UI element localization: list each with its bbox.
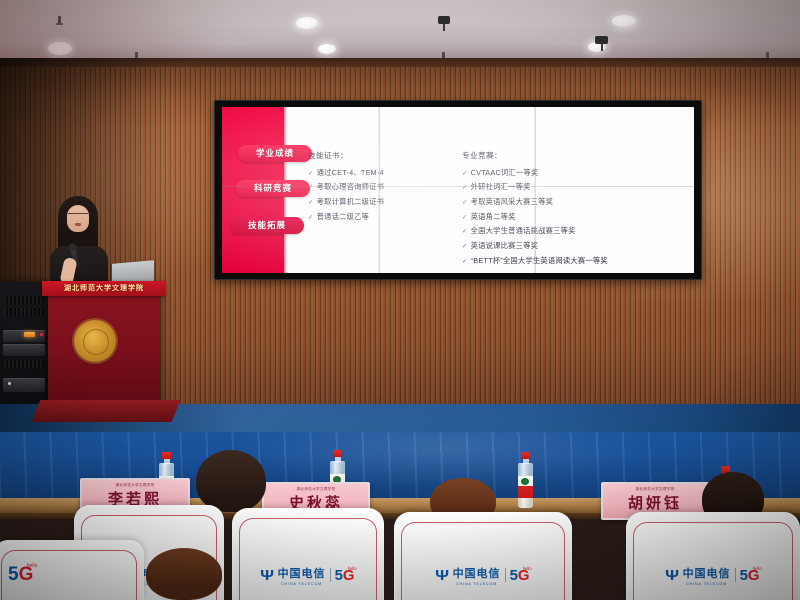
rack-unit xyxy=(3,344,45,356)
logo-divider xyxy=(330,568,331,582)
slide-tab-skills: 技能拓展 xyxy=(230,217,304,234)
china-telecom-logo: Ψ 中国电信 CHINA TELECOM 5Ghello xyxy=(626,564,800,586)
ceiling-fixture-icon xyxy=(438,16,450,24)
bottle-cap xyxy=(162,452,171,459)
competition-text: 全国大学生普通话挑战赛三等奖 xyxy=(471,226,576,235)
competitions-heading: 专业竞赛： xyxy=(462,149,608,164)
certificate-item: ✓通过CET-4、TEM-4 xyxy=(308,166,384,181)
ceiling xyxy=(0,0,800,62)
5g-five: 5 xyxy=(8,564,19,585)
chair-cover: 5Ghello xyxy=(0,540,144,600)
slide-tab-academic: 学业成绩 xyxy=(238,145,312,162)
presentation-slide: 学业成绩 科研竞赛 技能拓展 技能证书： ✓通过CET-4、TEM-4 ✓考取心… xyxy=(222,107,694,273)
screen-surface: 学业成绩 科研竞赛 技能拓展 技能证书： ✓通过CET-4、TEM-4 ✓考取心… xyxy=(222,107,694,273)
chair-cover: Ψ 中国电信 CHINA TELECOM 5Ghello xyxy=(626,512,800,600)
competition-item: ✓“BETT杯”全国大学生英语阅读大赛一等奖 xyxy=(462,254,608,269)
telecom-mark-icon: Ψ xyxy=(436,568,450,583)
av-equipment-rack xyxy=(0,282,48,416)
check-icon: ✓ xyxy=(462,199,468,206)
audience-head xyxy=(196,450,266,512)
competition-item: ✓英语说课比赛三等奖 xyxy=(462,239,608,254)
rack-power-led-icon xyxy=(8,382,11,385)
5g-g: G xyxy=(343,567,355,584)
5g-logo: 5Ghello xyxy=(510,568,530,583)
telecom-mark-icon: Ψ xyxy=(261,568,275,583)
certificate-item: ✓考取心理咨询师证书 xyxy=(308,180,384,195)
rack-vent-panel xyxy=(4,296,44,305)
presentation-photo: 学业成绩 科研竞赛 技能拓展 技能证书： ✓通过CET-4、TEM-4 ✓考取心… xyxy=(0,0,800,600)
check-icon: ✓ xyxy=(462,258,468,265)
5g-five: 5 xyxy=(510,567,518,584)
competition-item: ✓考取英语风采大赛三等奖 xyxy=(462,195,608,210)
5g-logo: 5Ghello xyxy=(335,568,355,583)
5g-hello: hello xyxy=(348,567,357,571)
5g-logo: 5Ghello xyxy=(740,568,760,583)
check-icon: ✓ xyxy=(308,199,314,206)
5g-g: G xyxy=(748,567,760,584)
ceiling-light-icon xyxy=(588,42,606,52)
projection-screen: 学业成绩 科研竞赛 技能拓展 技能证书： ✓通过CET-4、TEM-4 ✓考取心… xyxy=(214,100,702,280)
telecom-wordmark: 中国电信 CHINA TELECOM xyxy=(453,564,501,586)
telecom-name-cn: 中国电信 xyxy=(278,567,326,580)
certificate-text: 普通话二级乙等 xyxy=(317,212,369,221)
certificate-item: ✓普通话二级乙等 xyxy=(308,210,384,225)
competition-text: 外研社词汇一等奖 xyxy=(471,182,531,191)
chair-cover: Ψ 中国电信 CHINA TELECOM 5Ghello xyxy=(232,508,384,600)
presenter xyxy=(46,196,112,292)
telecom-name-en: CHINA TELECOM xyxy=(683,582,731,586)
competition-text: 考取英语风采大赛三等奖 xyxy=(471,197,553,206)
competition-item: ✓全国大学生普通话挑战赛三等奖 xyxy=(462,224,608,239)
competition-text: 英语角二等奖 xyxy=(471,212,516,221)
5g-five: 5 xyxy=(335,567,343,584)
5g-five: 5 xyxy=(740,567,748,584)
presenter-glasses-icon xyxy=(68,213,88,219)
logo-divider xyxy=(735,568,736,582)
bottle-cap xyxy=(521,452,530,459)
university-emblem-icon xyxy=(74,320,116,362)
certificate-item: ✓考取计算机二级证书 xyxy=(308,195,384,210)
chair-cover: Ψ 中国电信 CHINA TELECOM 5Ghello xyxy=(394,512,572,600)
slide-column-competitions: 专业竞赛： ✓CVTAAC词汇一等奖 ✓外研社词汇一等奖 ✓考取英语风采大赛三等… xyxy=(462,149,608,269)
telecom-name-cn: 中国电信 xyxy=(453,567,501,580)
competition-item: ✓CVTAAC词汇一等奖 xyxy=(462,166,608,181)
check-icon: ✓ xyxy=(308,170,314,177)
telecom-mark-icon: Ψ xyxy=(666,568,680,583)
5g-hello: hello xyxy=(753,567,762,571)
china-telecom-logo: Ψ 中国电信 CHINA TELECOM 5Ghello xyxy=(394,564,572,586)
telecom-name-cn: 中国电信 xyxy=(683,567,731,580)
check-icon: ✓ xyxy=(462,228,468,235)
competition-item: ✓外研社词汇一等奖 xyxy=(462,180,608,195)
presenter-mouth xyxy=(75,223,81,226)
ceiling-light-icon xyxy=(296,17,318,29)
ceiling-light-icon xyxy=(612,15,636,27)
competition-text: “BETT杯”全国大学生英语阅读大赛一等奖 xyxy=(471,256,608,265)
podium-banner: 湖北师范大学文理学院 xyxy=(42,281,166,296)
5g-logo-front: 5Ghello xyxy=(0,565,144,584)
ceiling-light-icon xyxy=(48,42,72,55)
check-icon: ✓ xyxy=(462,170,468,177)
competition-item: ✓英语角二等奖 xyxy=(462,210,608,225)
bottle-cap xyxy=(333,450,342,457)
telecom-wordmark: 中国电信 CHINA TELECOM xyxy=(278,564,326,586)
china-telecom-logo: Ψ 中国电信 CHINA TELECOM 5Ghello xyxy=(232,564,384,586)
certificate-text: 考取心理咨询师证书 xyxy=(317,182,384,191)
5g-g: G xyxy=(518,567,530,584)
5g-hello: hello xyxy=(523,567,532,571)
check-icon: ✓ xyxy=(462,243,468,250)
sprinkler-icon xyxy=(58,16,61,24)
name-card-name: 胡妍钰 xyxy=(603,492,707,514)
rack-status-led-icon xyxy=(24,332,35,337)
telecom-name-en: CHINA TELECOM xyxy=(453,582,501,586)
competition-text: 英语说课比赛三等奖 xyxy=(471,241,538,250)
rack-unit xyxy=(3,378,45,392)
ceiling-fixture-icon xyxy=(595,36,608,44)
red-carpet xyxy=(32,400,181,422)
bottle-label xyxy=(518,476,533,498)
check-icon: ✓ xyxy=(462,184,468,191)
ceiling-light-icon xyxy=(318,44,336,54)
wall-top-trim xyxy=(0,58,800,67)
audience-head xyxy=(146,548,222,600)
slide-column-certificates: 技能证书： ✓通过CET-4、TEM-4 ✓考取心理咨询师证书 ✓考取计算机二级… xyxy=(308,149,384,224)
5g-hello: hello xyxy=(27,564,38,569)
certificate-text: 通过CET-4、TEM-4 xyxy=(317,168,384,177)
check-icon: ✓ xyxy=(308,214,314,221)
5g-logo: 5Ghello xyxy=(8,565,33,584)
slide-tab-research: 科研竞赛 xyxy=(236,180,310,197)
logo-divider xyxy=(505,568,506,582)
telecom-name-en: CHINA TELECOM xyxy=(278,582,326,586)
check-icon: ✓ xyxy=(308,184,314,191)
competition-text: CVTAAC词汇一等奖 xyxy=(471,168,539,177)
check-icon: ✓ xyxy=(462,214,468,221)
certificate-text: 考取计算机二级证书 xyxy=(317,197,384,206)
rack-vent-panel xyxy=(4,360,44,369)
rack-vent-panel xyxy=(4,308,44,317)
rack-power-led-icon xyxy=(40,333,43,336)
water-bottle xyxy=(518,452,533,508)
5g-g: G xyxy=(19,564,34,585)
telecom-wordmark: 中国电信 CHINA TELECOM xyxy=(683,564,731,586)
certificates-heading: 技能证书： xyxy=(308,149,384,164)
